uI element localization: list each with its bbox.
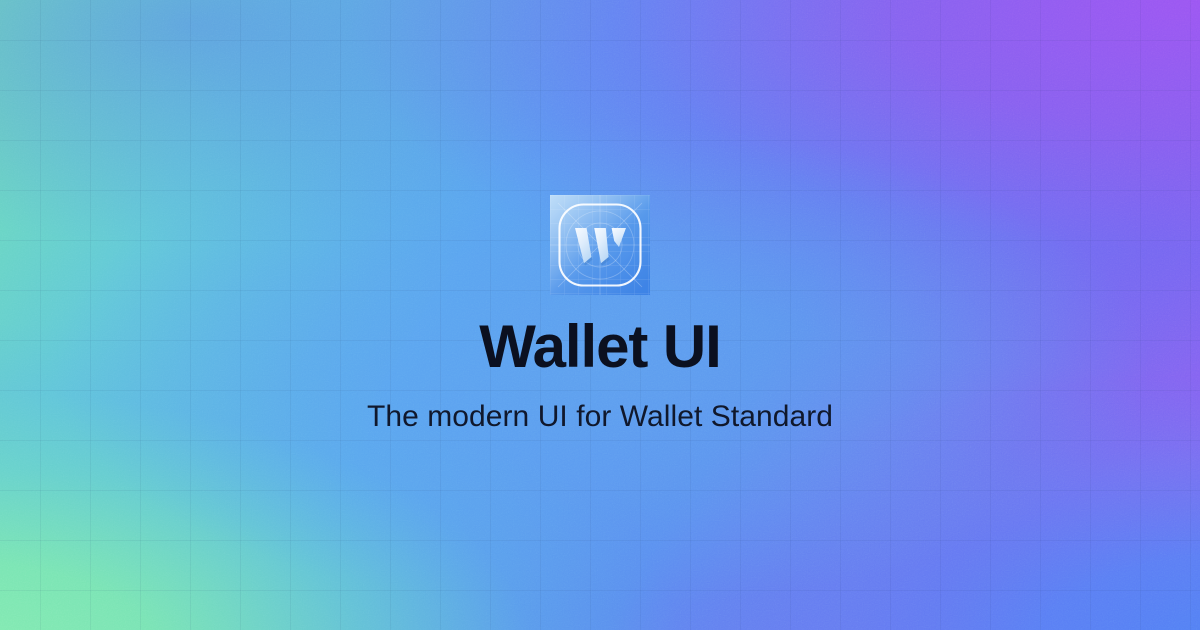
app-logo bbox=[550, 195, 650, 295]
og-card: Wallet UI The modern UI for Wallet Stand… bbox=[0, 0, 1200, 630]
page-title: Wallet UI bbox=[479, 317, 720, 377]
hero-content: Wallet UI The modern UI for Wallet Stand… bbox=[0, 0, 1200, 630]
wallet-ui-app-icon bbox=[550, 195, 650, 295]
page-subtitle: The modern UI for Wallet Standard bbox=[367, 399, 833, 435]
